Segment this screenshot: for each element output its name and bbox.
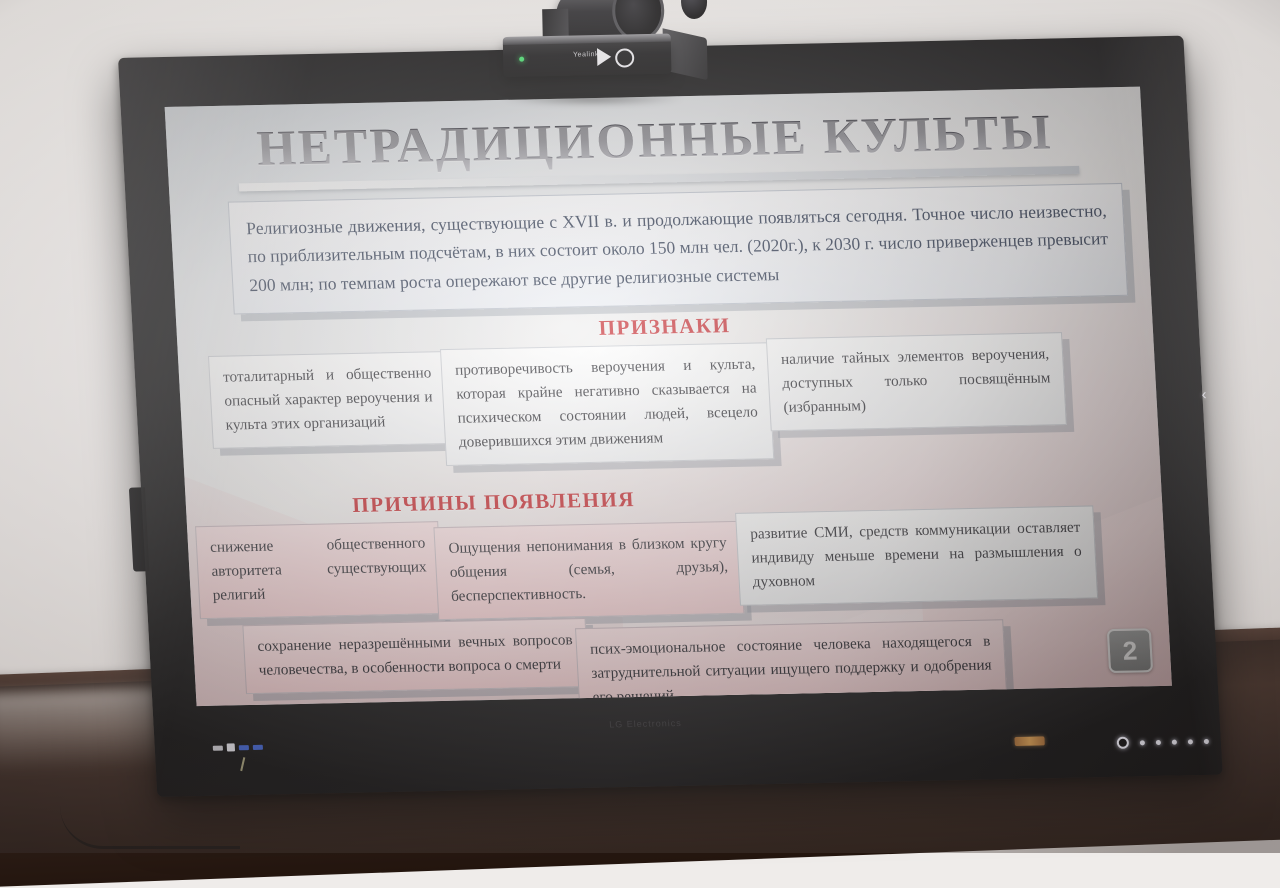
led-indicator-ring [1117,737,1130,749]
io-port-1 [213,745,223,750]
io-port-usb3-b [253,744,263,749]
led-indicator-4 [1188,739,1193,744]
camera-power-led [519,57,524,62]
chevron-left-icon[interactable]: ‹ [1201,387,1207,402]
intro-text-box: Религиозные движения, существующие с XVI… [228,183,1128,315]
led-indicator-3 [1172,739,1177,744]
slide-number-badge: 2 [1107,628,1153,673]
io-port-usb3 [239,745,249,750]
led-indicator-5 [1204,738,1209,743]
io-port-panel[interactable] [213,740,310,754]
led-indicator-1 [1140,740,1145,745]
io-port-2 [227,743,235,751]
sign-card-3: наличие тайных элементов вероучения, дос… [766,332,1067,431]
sign-card-2: противоречивость вероучения и культа, ко… [440,342,774,466]
cause-card-4: сохранение неразрешёнными вечных вопросо… [242,618,589,694]
camera-lens-glass [681,0,708,19]
cause-card-3: развитие СМИ, средств коммуникации остав… [735,505,1098,605]
cause-card-1: снижение общественного авторитета сущест… [195,521,443,619]
camera-play-icon [597,48,611,66]
sign-card-1: тоталитарный и общественно опасный харак… [208,351,449,449]
display-unit: НЕТРАДИЦИОННЫЕ КУЛЬТЫ Религиозные движен… [118,35,1234,816]
power-cable [60,806,240,849]
cause-card-2: Ощущения непонимания в близком кругу общ… [433,521,744,620]
display-brand-logo: LG Electronics [609,718,682,730]
power-button-strip[interactable] [1014,736,1044,746]
video-conference-camera: Yealink [494,0,706,106]
display-screen[interactable]: НЕТРАДИЦИОННЫЕ КУЛЬТЫ Религиозные движен… [165,87,1172,707]
led-indicator-2 [1156,739,1161,744]
presentation-slide: НЕТРАДИЦИОННЫЕ КУЛЬТЫ Религиозные движен… [165,87,1172,707]
camera-brand-logo: Yealink [573,51,599,59]
